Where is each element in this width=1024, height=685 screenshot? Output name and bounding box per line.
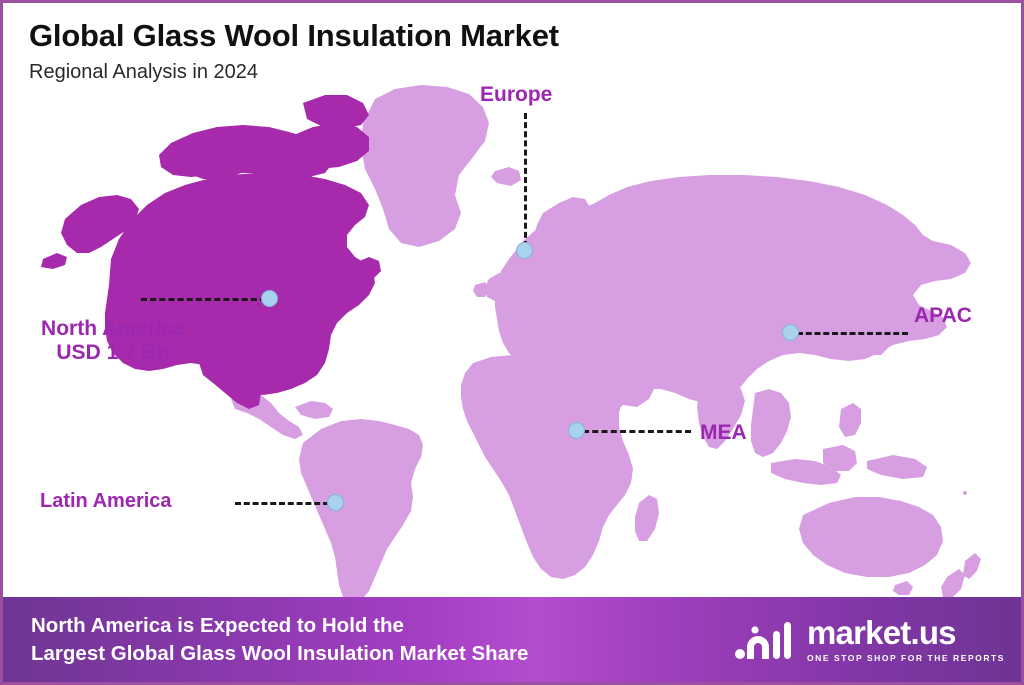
page-subtitle: Regional Analysis in 2024 [29, 61, 559, 83]
header: Global Glass Wool Insulation Market Regi… [29, 19, 559, 83]
island-speck [601, 357, 605, 361]
south-america-shape [299, 419, 423, 603]
leader-line-mea [583, 430, 691, 433]
africa-shape [461, 355, 633, 579]
value-north-america: USD 1.7 Bn [13, 341, 213, 365]
madagascar-shape [635, 495, 659, 541]
map-marker-europe[interactable] [516, 242, 533, 259]
map-marker-apac[interactable] [782, 324, 799, 341]
southeast-asia-shape [751, 389, 791, 457]
label-europe: Europe [480, 83, 552, 107]
callout-apac[interactable]: APAC [914, 304, 972, 328]
new-zealand-shape [963, 553, 981, 579]
australia-shape [799, 497, 943, 577]
aleutian-shape [41, 253, 67, 269]
ellesmere-shape [303, 95, 369, 129]
callout-mea[interactable]: MEA [700, 421, 747, 445]
page-title: Global Glass Wool Insulation Market [29, 19, 559, 53]
callout-latin-america[interactable]: Latin America [40, 490, 172, 513]
logo-tagline: ONE STOP SHOP FOR THE REPORTS [807, 653, 1005, 663]
leader-line-latin-america [235, 502, 329, 505]
leader-line-apac [797, 332, 908, 335]
iceland-shape [491, 167, 521, 186]
banner-line-2: Largest Global Glass Wool Insulation Mar… [31, 640, 528, 668]
callout-north-america[interactable]: North America USD 1.7 Bn [13, 317, 213, 365]
greenland-shape [361, 85, 489, 247]
label-apac: APAC [914, 304, 972, 328]
logo-wordmark: market.us [807, 616, 1005, 649]
map-marker-latin-america[interactable] [327, 494, 344, 511]
map-marker-mea[interactable] [568, 422, 585, 439]
logo-text: market.us ONE STOP SHOP FOR THE REPORTS [807, 616, 1005, 663]
label-latin-america: Latin America [40, 490, 172, 513]
logo-mark-icon [734, 617, 796, 663]
tasmania-shape [893, 581, 913, 595]
callout-europe[interactable]: Europe [480, 83, 552, 107]
map-marker-north-america[interactable] [261, 290, 278, 307]
label-mea: MEA [700, 421, 747, 445]
leader-line-north-america [141, 298, 266, 301]
new-guinea-shape [867, 455, 927, 479]
infographic-card: Global Glass Wool Insulation Market Regi… [0, 0, 1024, 685]
island-speck [963, 491, 967, 495]
market-us-logo[interactable]: market.us ONE STOP SHOP FOR THE REPORTS [734, 616, 1005, 663]
banner-text: North America is Expected to Hold the La… [31, 612, 528, 667]
label-north-america: North America [13, 317, 213, 341]
bottom-banner: North America is Expected to Hold the La… [3, 597, 1024, 682]
philippines-shape [839, 403, 861, 437]
island-speck [725, 323, 729, 327]
banner-line-1: North America is Expected to Hold the [31, 612, 528, 640]
caribbean-shape [295, 401, 333, 419]
baffin-shape [289, 123, 369, 169]
new-zealand-south-shape [941, 569, 965, 599]
leader-line-europe [524, 113, 527, 247]
